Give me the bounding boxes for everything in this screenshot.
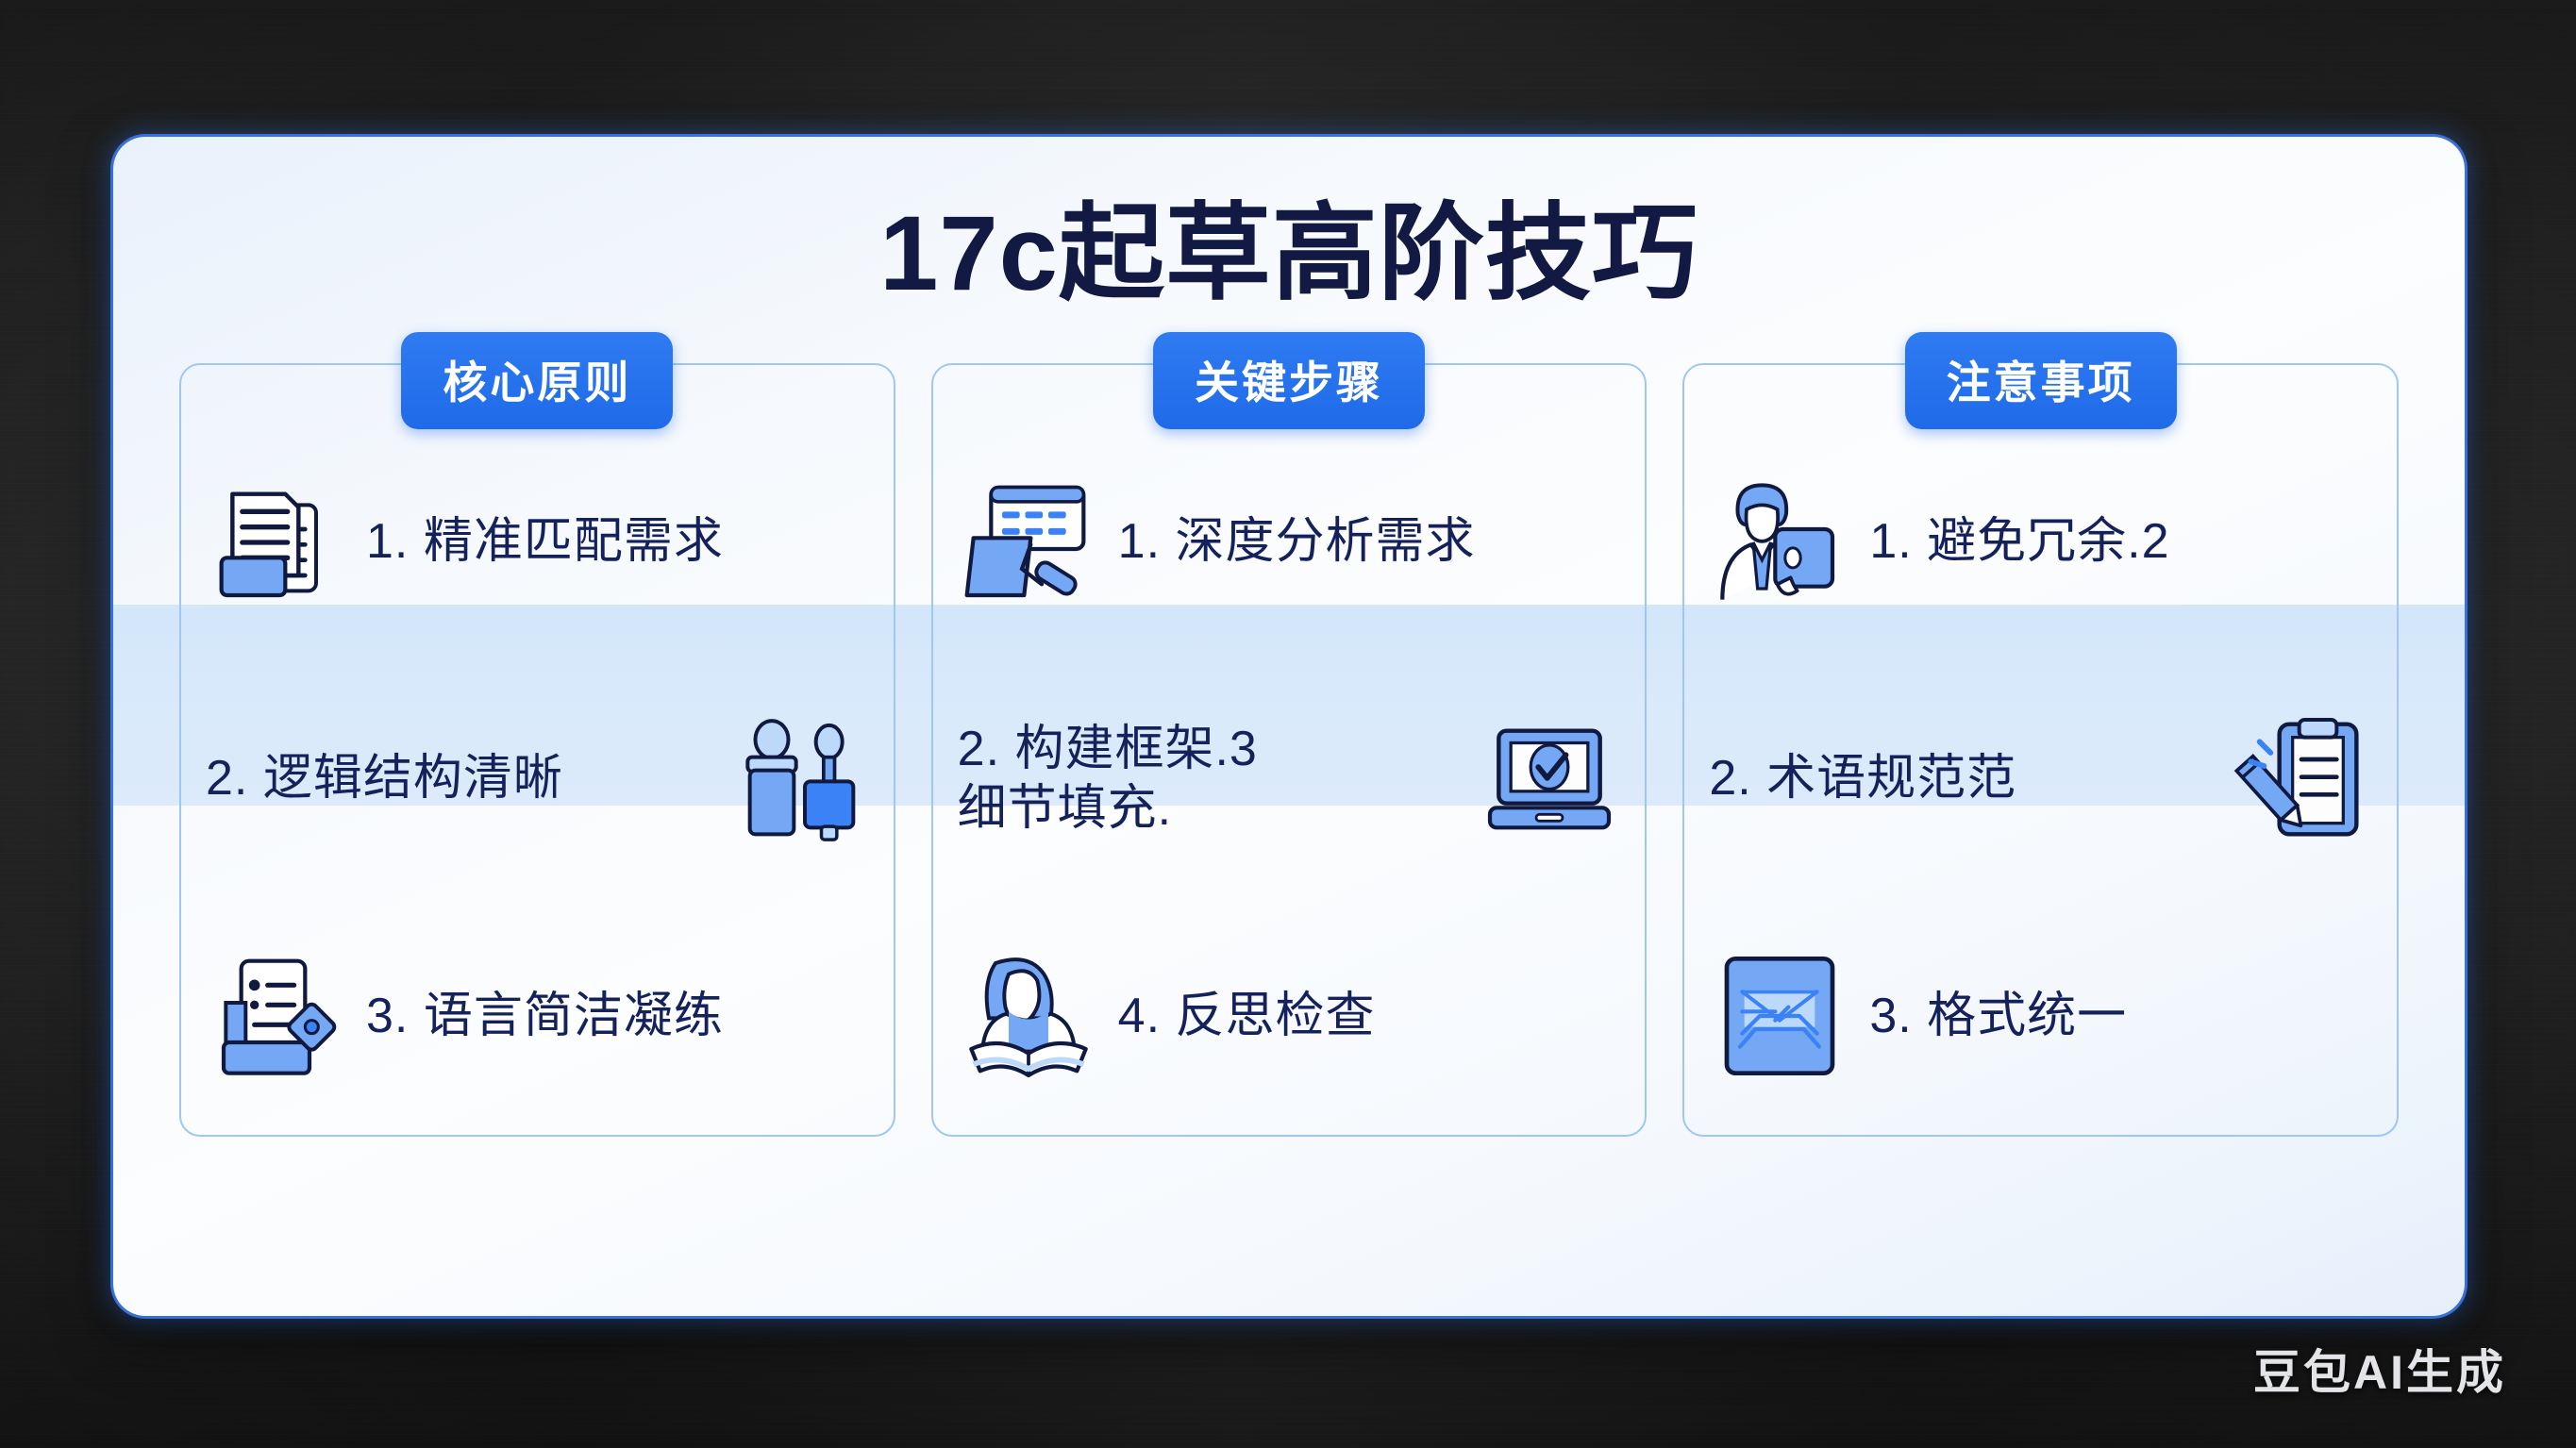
document-tag-icon [206,950,347,1082]
columns-list: 核心原则 1. 精准匹配需求 2. 逻辑结构清晰 [179,363,2399,1137]
columns-area: 核心原则 1. 精准匹配需求 2. 逻辑结构清晰 [179,363,2399,1137]
list-item[interactable]: 3. 语言简洁凝练 [181,898,894,1135]
list-item-label: 1. 避免冗余.2 [1869,512,2372,572]
list-item[interactable]: 3. 格式统一 [1684,898,2397,1135]
column-card: 注意事项 1. 避免冗余.2 2. 术语规范范 [1682,363,2399,1137]
person-tablet-icon [1709,476,1850,608]
column-rows: 1. 深度分析需求 2. 构建框架.3 细节填充. 4. 反思检查 [933,424,1646,1135]
list-item-label: 4. 反思检查 [1118,987,1621,1046]
column-header-2[interactable]: 关键步骤 [1153,332,1425,429]
envelope-icon [1709,950,1850,1082]
list-item[interactable]: 2. 术语规范范 [1684,660,2397,897]
list-item[interactable]: 4. 反思检查 [933,898,1646,1135]
list-item[interactable]: 1. 精准匹配需求 [181,424,894,660]
list-item-label: 1. 精准匹配需求 [366,512,869,572]
laptop-check-icon [1479,713,1620,845]
clipboard-pencil-icon [2231,713,2372,845]
column-card: 核心原则 1. 精准匹配需求 2. 逻辑结构清晰 [179,363,895,1137]
list-item-label: 3. 语言简洁凝练 [366,987,869,1046]
list-item-label: 2. 构建框架.3 细节填充. [958,720,1461,840]
person-reading-icon [958,950,1099,1082]
documents-icon [206,476,347,608]
column-rows: 1. 避免冗余.2 2. 术语规范范 3. 格式统一 [1684,424,2397,1135]
list-item-label: 3. 格式统一 [1869,987,2372,1046]
watermark: 豆包AI生成 [2253,1335,2506,1403]
list-item[interactable]: 1. 深度分析需求 [933,424,1646,660]
poster-card: 17c起草高阶技巧 核心原则 1. 精准匹配需求 2. 逻辑结构清晰 [113,137,2465,1316]
column-header-3[interactable]: 注意事项 [1905,332,2177,429]
column-header-1[interactable]: 核心原则 [401,332,673,429]
whiteboard-pointer-icon [958,476,1099,608]
column-rows: 1. 精准匹配需求 2. 逻辑结构清晰 3. 语言简洁凝练 [181,424,894,1135]
podium-people-icon [728,713,869,845]
list-item-label: 2. 逻辑结构清晰 [206,749,709,808]
list-item[interactable]: 2. 构建框架.3 细节填充. [933,660,1646,897]
column-card: 关键步骤 1. 深度分析需求 2. 构建框架.3 细节填充. [931,363,1648,1137]
page-title: 17c起草高阶技巧 [113,191,2465,316]
list-item[interactable]: 1. 避免冗余.2 [1684,424,2397,660]
list-item[interactable]: 2. 逻辑结构清晰 [181,660,894,897]
list-item-label: 1. 深度分析需求 [1118,512,1621,572]
list-item-label: 2. 术语规范范 [1709,749,2212,808]
